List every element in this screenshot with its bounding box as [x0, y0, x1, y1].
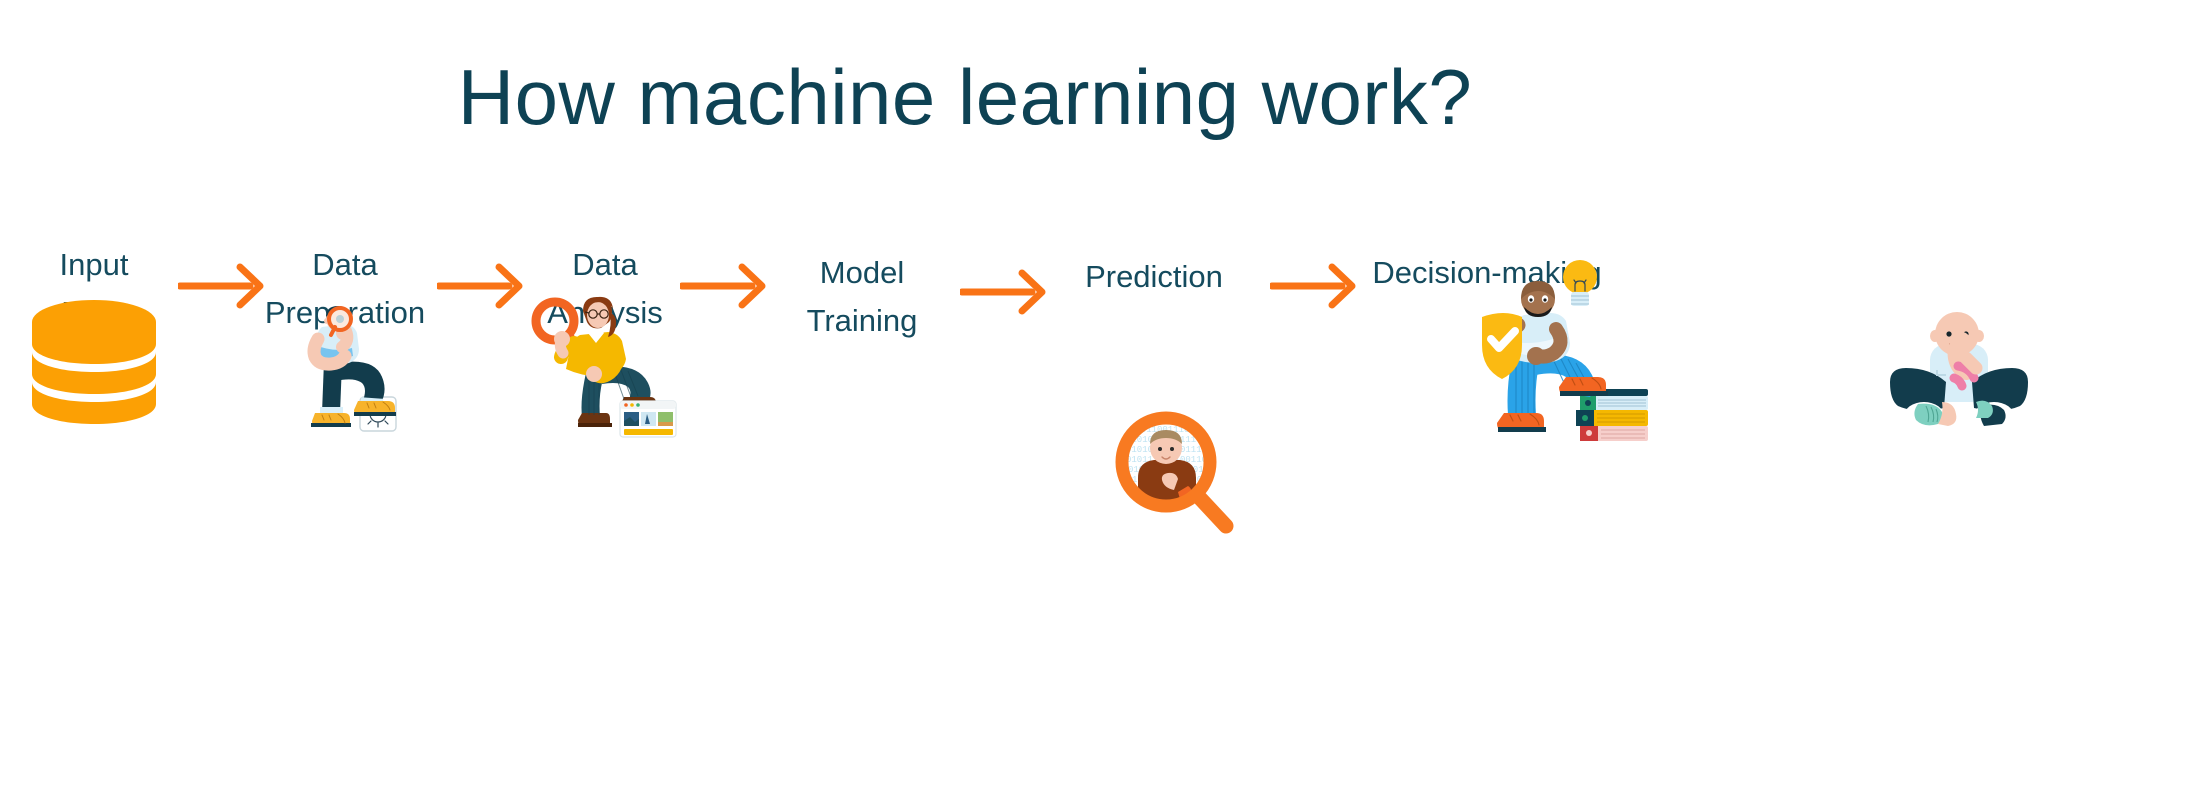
step-label-model-training: Model Training: [782, 249, 942, 345]
arrow-4: [960, 269, 1050, 315]
step-label-line: Model: [782, 249, 942, 297]
person-shield-books-bulb-icon: [1480, 255, 1650, 440]
page-title: How machine learning work?: [0, 58, 1930, 136]
woman-magnifier-browser-icon: [528, 295, 678, 440]
arrow-5: [1270, 263, 1360, 309]
step-label-line: Input: [14, 241, 174, 289]
infographic-canvas: How machine learning work? Input Data Da…: [0, 0, 2200, 794]
person-thinking-sitting-icon: [1884, 310, 2034, 435]
arrow-2: [437, 263, 527, 309]
magnifier-person-binary-icon: 1001100111001 010101010111101 0101011010…: [1108, 408, 1248, 543]
person-magnifier-sitting-icon: [298, 305, 408, 440]
step-label-prediction: Prediction: [1072, 253, 1236, 301]
step-label-line: Data: [525, 241, 685, 289]
database-icon: [32, 300, 156, 435]
step-label-line: Data: [255, 241, 435, 289]
arrow-3: [680, 263, 770, 309]
step-label-line: Prediction: [1072, 253, 1236, 301]
step-label-line: Training: [782, 297, 942, 345]
